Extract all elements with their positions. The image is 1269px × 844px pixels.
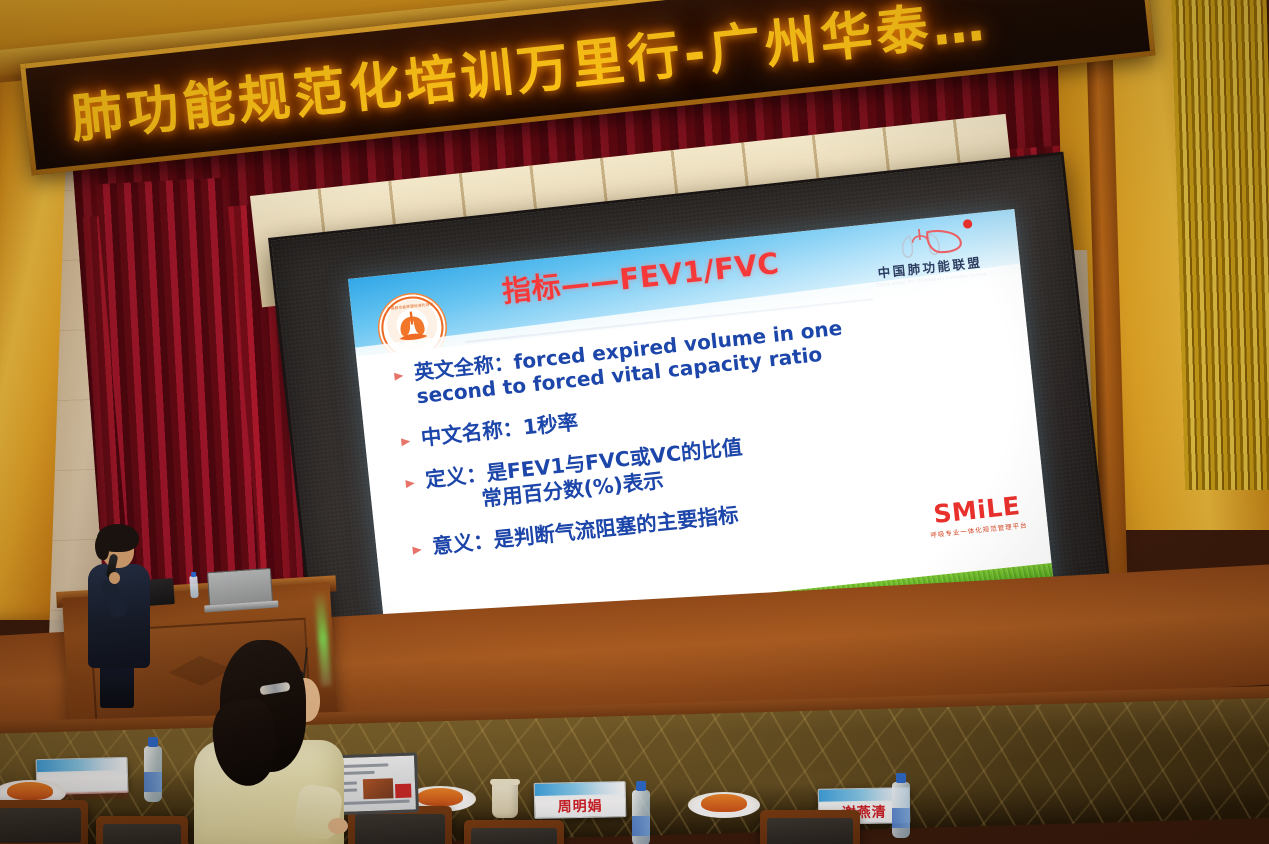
chair-5 [760,810,860,844]
conference-hall-photo: 肺功能规范化培训万里行-广州华泰… 中国肺功能联盟标准化培训 指标——FEV1/… [0,0,1269,844]
placard-left-name [37,771,127,773]
right-ribbed-wall [1171,0,1269,490]
bullet-1-line1: 1秒率 [522,410,579,440]
attendee-with-laptop [178,640,348,844]
fruit-3 [701,794,747,812]
water-bottle-1 [144,746,162,802]
smile-logo: SMiLE 呼吸专业一体化规范管理平台 [927,493,1028,540]
placard-zhou-mingjuan: 周明娟 [534,781,627,819]
water-bottle-3 [892,782,910,838]
podium-water-bottle [189,576,199,599]
presentation-laptop [207,568,273,606]
chair-1 [0,800,88,844]
lung-emblem-glyph [390,305,434,345]
chair-1-pad [0,808,81,843]
attendee-hand [328,818,348,834]
paper-cup-1 [492,782,518,818]
presenter-at-podium [78,524,164,694]
chair-4-pad [471,828,557,844]
presenter-legs [100,664,134,708]
chair-2 [96,816,188,844]
chair-2-pad [103,824,181,844]
chair-3-pad [355,814,445,844]
presenter-hair-side [95,534,109,560]
water-bottle-2 [632,790,650,844]
chair-5-pad [767,818,853,844]
union-brand-logo: 中国肺功能联盟 China Union For Pulmonary Functi… [848,214,1009,290]
placard-zhou-mingjuan-name: 周明娟 [535,795,625,817]
bullet-3-label: 意义： [431,528,495,558]
presenter-hand [109,572,120,584]
bullet-2-label: 定义： [424,461,488,491]
fruit-plate-3 [688,792,760,818]
chair-4 [464,820,564,844]
bullet-3-line1: 是判断气流阻塞的主要指标 [492,502,739,552]
bullet-1-label: 中文名称： [420,415,524,450]
fruit-1 [7,782,53,800]
fruit-2 [417,788,463,806]
